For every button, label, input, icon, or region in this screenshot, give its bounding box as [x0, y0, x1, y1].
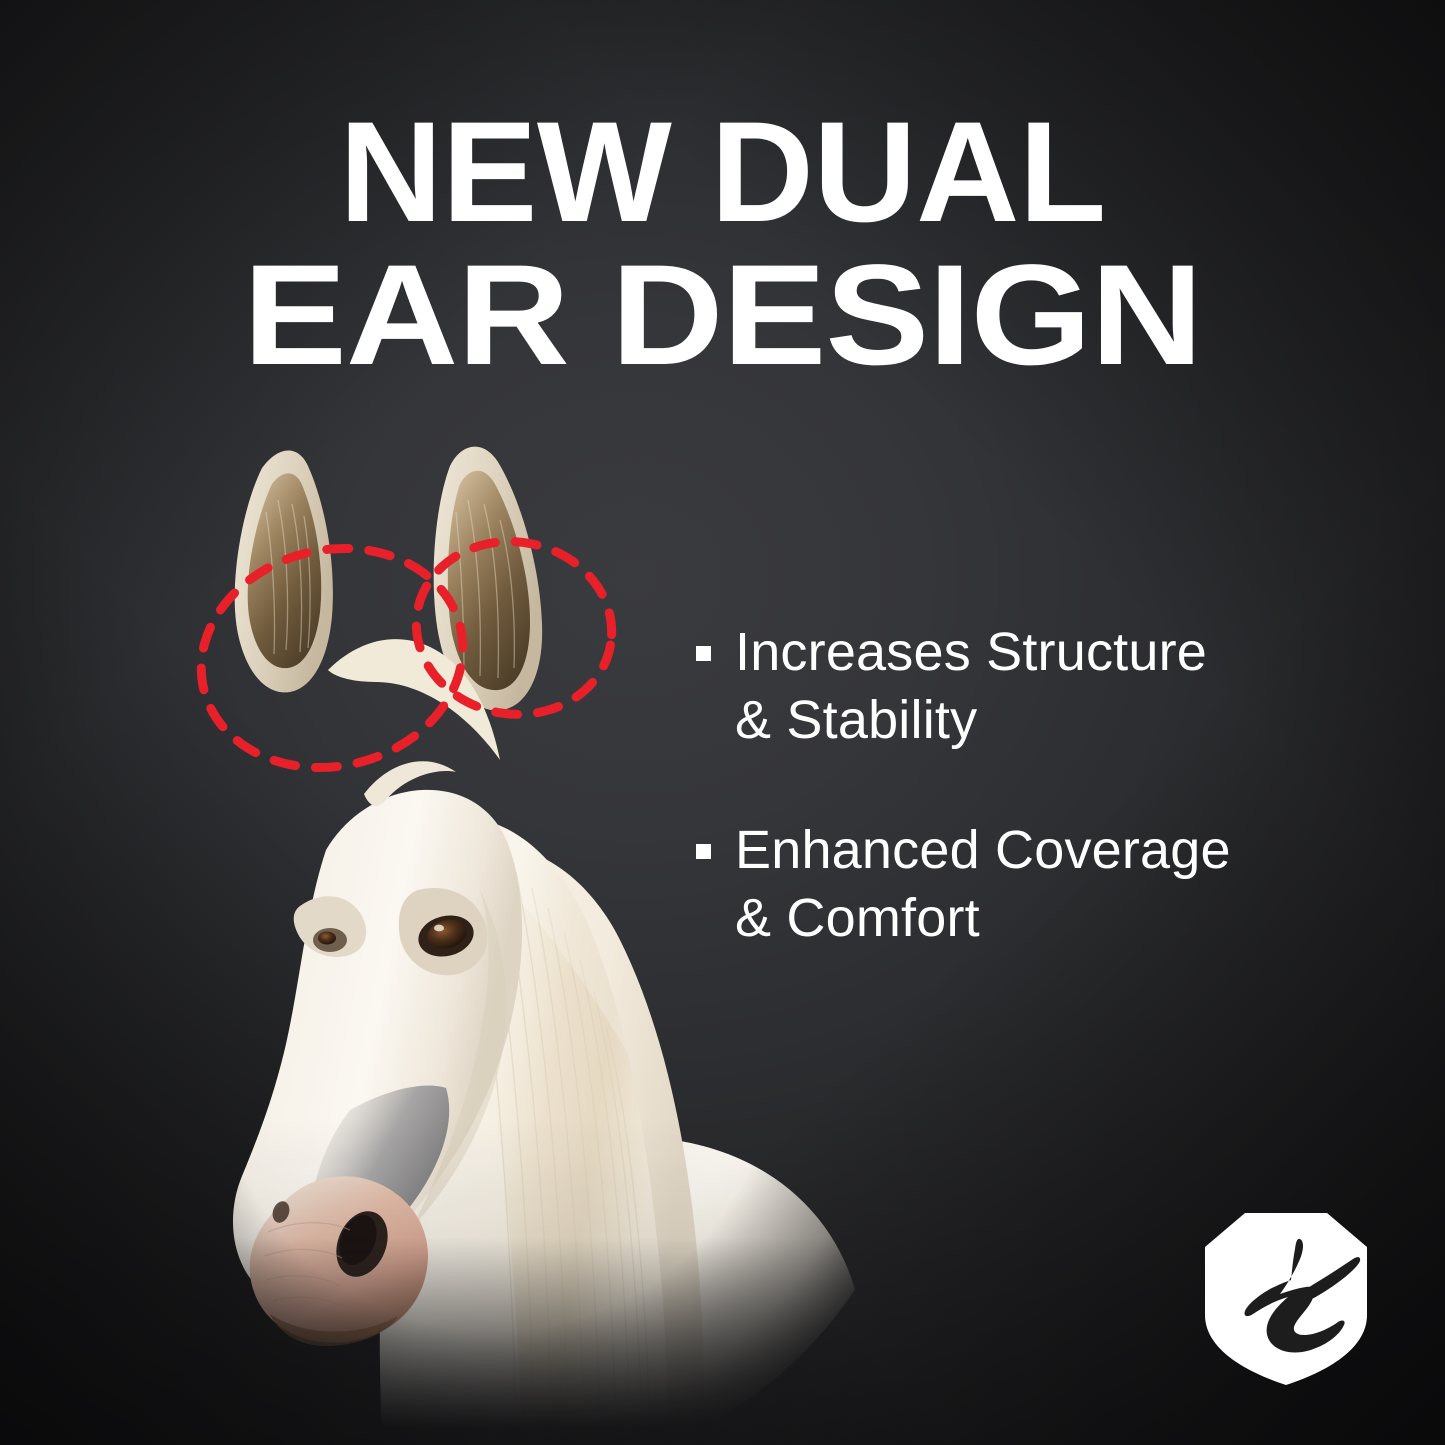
- list-item: Increases Structure & Stability: [696, 618, 1356, 754]
- bullet-square-icon: [696, 844, 711, 859]
- feature-list: Increases Structure & Stability Enhanced…: [696, 618, 1356, 1014]
- brand-logo: [1203, 1211, 1369, 1387]
- promotional-graphic: NEW DUAL EAR DESIGN: [0, 0, 1445, 1445]
- feature-line-1: Increases Structure: [735, 622, 1207, 682]
- eye-left-pupil: [318, 932, 336, 945]
- feature-line-2: & Stability: [735, 690, 977, 750]
- eye-right-catchlight: [434, 925, 444, 932]
- list-item: Enhanced Coverage & Comfort: [696, 816, 1356, 952]
- feature-line-1: Enhanced Coverage: [735, 820, 1231, 880]
- feature-line-2: & Comfort: [735, 888, 980, 948]
- horse-ear-left: [235, 450, 333, 692]
- feature-text: Increases Structure & Stability: [735, 618, 1207, 754]
- feature-text: Enhanced Coverage & Comfort: [735, 816, 1231, 952]
- bullet-square-icon: [696, 646, 711, 661]
